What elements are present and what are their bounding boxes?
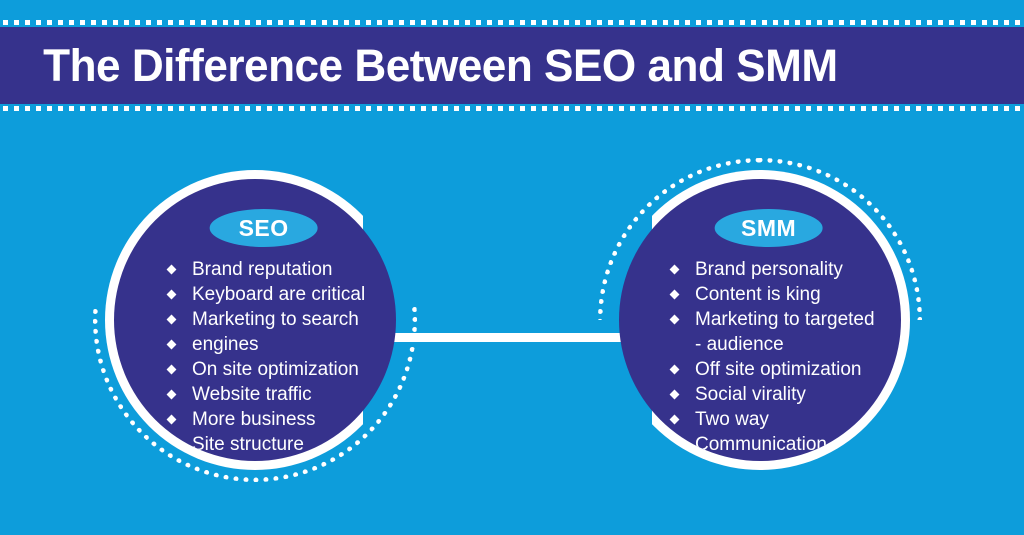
list-item: Brand personality xyxy=(667,257,901,282)
panel-seo: SEO Brand reputation Keyboard are critic… xyxy=(105,170,405,470)
list-item-label: Communication xyxy=(695,434,827,455)
diamond-bullet-icon xyxy=(670,390,680,400)
list-item: Keyboard are critical xyxy=(164,282,396,307)
page-title: The Difference Between SEO and SMM xyxy=(0,40,838,92)
list-item-label: Marketing to targeted xyxy=(695,309,875,330)
list-item-label: Marketing to search xyxy=(192,309,359,330)
list-item: Site structure xyxy=(164,432,396,457)
list-item-label: - audience xyxy=(695,334,784,355)
list-item-label: engines xyxy=(192,334,259,355)
list-item: Content is king xyxy=(667,282,901,307)
title-banner: The Difference Between SEO and SMM xyxy=(0,27,1024,104)
badge-label-seo: SEO xyxy=(239,215,289,242)
list-item: Marketing to search xyxy=(164,307,396,332)
list-item-label: Social virality xyxy=(695,384,806,405)
list-item: Social virality xyxy=(667,382,901,407)
list-item-label: Keyboard are critical xyxy=(192,284,365,305)
circle-disc-smm: SMM Brand personality Content is king Ma… xyxy=(619,179,901,461)
top-background-strip xyxy=(0,0,1024,18)
list-item-label: Brand personality xyxy=(695,259,843,280)
list-item: Website traffic xyxy=(164,382,396,407)
list-item: Communication xyxy=(667,432,901,457)
diamond-bullet-icon xyxy=(167,315,177,325)
list-item-label: On site optimization xyxy=(192,359,359,380)
diamond-bullet-icon xyxy=(167,390,177,400)
badge-seo: SEO xyxy=(210,209,318,247)
list-item-label: Two way xyxy=(695,409,769,430)
list-item: Off site optimization xyxy=(667,357,901,382)
feature-list-smm: Brand personality Content is king Market… xyxy=(619,257,901,461)
list-item: Two way xyxy=(667,407,901,432)
list-item: engines xyxy=(164,332,396,357)
diamond-bullet-icon xyxy=(670,315,680,325)
diamond-bullet-icon xyxy=(167,415,177,425)
diamond-bullet-icon xyxy=(167,290,177,300)
diamond-bullet-icon xyxy=(670,415,680,425)
diamond-bullet-icon xyxy=(670,290,680,300)
badge-smm: SMM xyxy=(715,209,823,247)
list-item: Marketing to targeted xyxy=(667,307,901,332)
diamond-bullet-icon xyxy=(167,340,177,350)
list-item-label: Content is king xyxy=(695,284,821,305)
list-item: - audience xyxy=(667,332,901,357)
circle-disc-seo: SEO Brand reputation Keyboard are critic… xyxy=(114,179,396,461)
list-item-label: Brand reputation xyxy=(192,259,333,280)
diamond-bullet-icon xyxy=(167,265,177,275)
feature-list-seo: Brand reputation Keyboard are critical M… xyxy=(114,257,396,457)
list-item-label: Off site optimization xyxy=(695,359,862,380)
list-item-label: Content xyxy=(695,459,762,461)
dotted-divider-bottom xyxy=(0,104,1024,113)
list-item: On site optimization xyxy=(164,357,396,382)
list-item: Content xyxy=(667,457,901,461)
list-item-label: Website traffic xyxy=(192,384,312,405)
badge-label-smm: SMM xyxy=(741,215,796,242)
diamond-bullet-icon xyxy=(167,440,177,450)
diamond-bullet-icon xyxy=(670,365,680,375)
list-item-label: Site structure xyxy=(192,434,304,455)
diamond-bullet-icon xyxy=(167,365,177,375)
diamond-bullet-icon xyxy=(670,265,680,275)
dotted-divider-top xyxy=(0,18,1024,27)
panel-smm: SMM Brand personality Content is king Ma… xyxy=(610,170,910,470)
list-item: More business xyxy=(164,407,396,432)
infographic-canvas: The Difference Between SEO and SMM SEO B… xyxy=(0,0,1024,535)
list-item-label: More business xyxy=(192,409,316,430)
list-item: Brand reputation xyxy=(164,257,396,282)
